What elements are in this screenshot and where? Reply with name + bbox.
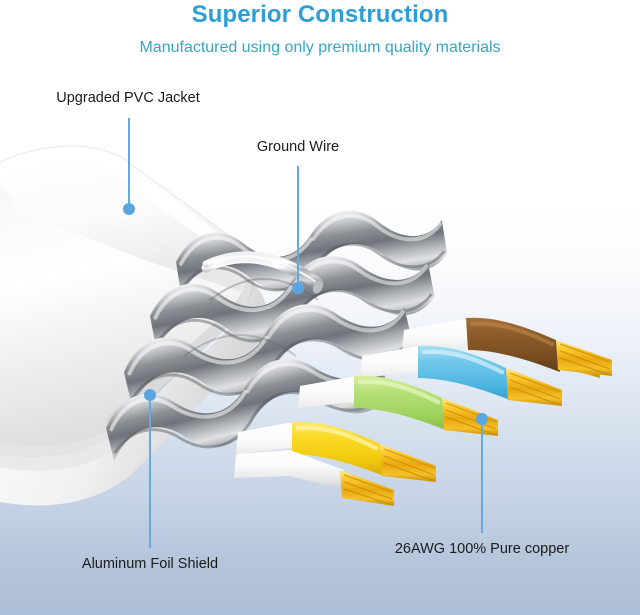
infographic-canvas: Superior Construction Manufactured using… xyxy=(0,0,640,615)
copper-strands-green xyxy=(442,398,498,436)
callout-label-ground-wire: Ground Wire xyxy=(257,139,339,155)
conductor-pair-yellow xyxy=(234,422,436,506)
copper-strands-yellow xyxy=(380,444,436,482)
leader-line-ground-wire xyxy=(297,166,299,282)
copper-strands-brown xyxy=(556,340,612,376)
callout-label-pvc-jacket: Upgraded PVC Jacket xyxy=(56,90,199,106)
page-title: Superior Construction xyxy=(0,1,640,29)
page-subtitle: Manufactured using only premium quality … xyxy=(0,39,640,57)
callout-label-foil-shield: Aluminum Foil Shield xyxy=(82,556,218,572)
leader-line-pvc-jacket xyxy=(128,118,130,203)
callout-label-pure-copper: 26AWG 100% Pure copper xyxy=(395,541,569,557)
leader-dot-ground-wire xyxy=(292,282,304,294)
leader-line-foil-shield xyxy=(149,401,151,548)
copper-strands-blue xyxy=(506,368,562,406)
leader-dot-pure-copper xyxy=(476,413,488,425)
leader-dot-pvc-jacket xyxy=(123,203,135,215)
leader-dot-foil-shield xyxy=(144,389,156,401)
leader-line-pure-copper xyxy=(481,425,483,533)
